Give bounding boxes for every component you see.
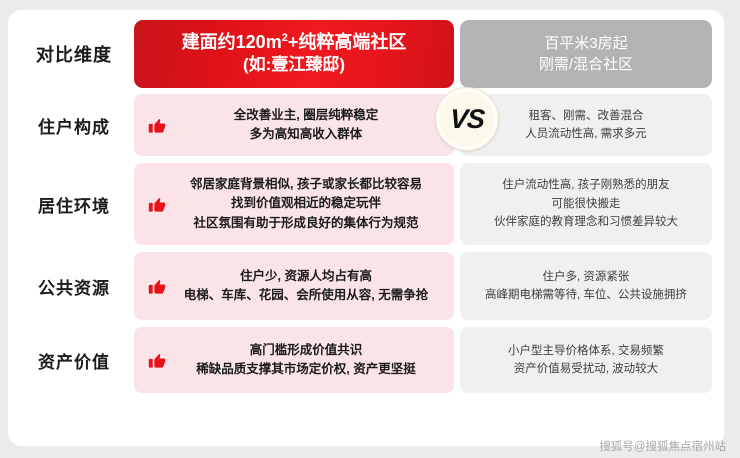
pro-card: 高门槛形成价值共识 稀缺品质支撑其市场定价权, 资产更坚挺: [134, 327, 454, 393]
thumbs-up-icon: [140, 351, 174, 370]
con-text-line: 租客、刚需、改善混合: [525, 107, 646, 125]
table-row: 居住环境 邻居家庭背景相似, 孩子或家长都比较容易 找到价值观相近的稳定玩伴: [20, 163, 712, 245]
con-text: 租客、刚需、改善混合 人员流动性高, 需求多元: [525, 107, 646, 144]
table-row: 公共资源 住户少, 资源人均占有高 电梯、车库、花园、会所使用从容, 无需争抢: [20, 252, 712, 320]
con-cell: 住户流动性高, 孩子刚熟悉的朋友 可能很快搬走 伙伴家庭的教育理念和习惯差异较大: [460, 163, 712, 245]
pro-card: 邻居家庭背景相似, 孩子或家长都比较容易 找到价值观相近的稳定玩伴 社区氛围有助…: [134, 163, 454, 245]
comparison-infographic: 对比维度 建面约120m2+纯粹高端社区 (如:壹江臻邸) 百平米3房起 刚需/…: [0, 0, 740, 458]
pro-header-line1-prefix: 建面约120m: [182, 32, 282, 52]
pro-text-line: 全改善业主, 圈层纯粹稳定: [174, 106, 438, 125]
pro-text: 邻居家庭背景相似, 孩子或家长都比较容易 找到价值观相近的稳定玩伴 社区氛围有助…: [174, 175, 444, 233]
thumbs-up-icon: [140, 195, 174, 214]
dimension-label: 公共资源: [20, 252, 128, 320]
pro-card: 住户少, 资源人均占有高 电梯、车库、花园、会所使用从容, 无需争抢: [134, 252, 454, 320]
pro-header-banner: 建面约120m2+纯粹高端社区 (如:壹江臻邸): [134, 20, 454, 88]
header-row: 对比维度 建面约120m2+纯粹高端社区 (如:壹江臻邸) 百平米3房起 刚需/…: [20, 20, 712, 88]
pro-card: 全改善业主, 圈层纯粹稳定 多为高知高收入群体: [134, 94, 454, 156]
con-card: 住户流动性高, 孩子刚熟悉的朋友 可能很快搬走 伙伴家庭的教育理念和习惯差异较大: [460, 163, 712, 245]
thumbs-up-icon: [140, 277, 174, 296]
pro-header-line1: 建面约120m2+纯粹高端社区: [182, 31, 407, 54]
con-text-line: 伙伴家庭的教育理念和习惯差异较大: [494, 213, 678, 231]
thumbs-up-icon: [140, 116, 174, 135]
dimension-label: 资产价值: [20, 327, 128, 393]
pro-cell: 住户少, 资源人均占有高 电梯、车库、花园、会所使用从容, 无需争抢: [134, 252, 454, 320]
con-card: 租客、刚需、改善混合 人员流动性高, 需求多元: [460, 94, 712, 156]
con-text-line: 小户型主导价格体系, 交易频繁: [508, 342, 664, 360]
pro-text: 住户少, 资源人均占有高 电梯、车库、花园、会所使用从容, 无需争抢: [174, 267, 444, 306]
con-text-line: 住户多, 资源紧张: [485, 268, 687, 286]
pro-header-line1-suffix: +纯粹高端社区: [288, 32, 407, 52]
pro-text-line: 找到价值观相近的稳定玩伴: [174, 194, 438, 213]
con-header-cell: 百平米3房起 刚需/混合社区: [460, 20, 712, 88]
con-header-line2: 刚需/混合社区: [539, 54, 633, 75]
con-cell: 住户多, 资源紧张 高峰期电梯需等待, 车位、公共设施拥挤: [460, 252, 712, 320]
pro-header-cell: 建面约120m2+纯粹高端社区 (如:壹江臻邸): [134, 20, 454, 88]
con-card: 小户型主导价格体系, 交易频繁 资产价值易受扰动, 波动较大: [460, 327, 712, 393]
pro-text-line: 高门槛形成价值共识: [174, 341, 438, 360]
pro-cell: 邻居家庭背景相似, 孩子或家长都比较容易 找到价值观相近的稳定玩伴 社区氛围有助…: [134, 163, 454, 245]
con-text-line: 高峰期电梯需等待, 车位、公共设施拥挤: [485, 286, 687, 304]
con-text: 住户流动性高, 孩子刚熟悉的朋友 可能很快搬走 伙伴家庭的教育理念和习惯差异较大: [494, 176, 678, 231]
con-text-line: 资产价值易受扰动, 波动较大: [508, 360, 664, 378]
pro-cell: 高门槛形成价值共识 稀缺品质支撑其市场定价权, 资产更坚挺: [134, 327, 454, 393]
con-text: 住户多, 资源紧张 高峰期电梯需等待, 车位、公共设施拥挤: [485, 268, 687, 305]
table-row: 住户构成 全改善业主, 圈层纯粹稳定 多为高知高收入群体: [20, 94, 712, 156]
pro-text-line: 多为高知高收入群体: [174, 125, 438, 144]
pro-text-line: 社区氛围有助于形成良好的集体行为规范: [174, 214, 438, 233]
comparison-panel: 对比维度 建面约120m2+纯粹高端社区 (如:壹江臻邸) 百平米3房起 刚需/…: [8, 10, 724, 446]
dimension-header: 对比维度: [20, 20, 128, 88]
vs-badge-label: VS: [449, 104, 485, 135]
pro-header-line2: (如:壹江臻邸): [243, 54, 345, 77]
con-text-line: 住户流动性高, 孩子刚熟悉的朋友: [494, 176, 678, 194]
watermark: 搜狐号@搜狐焦点宿州站: [599, 438, 726, 454]
con-header-banner: 百平米3房起 刚需/混合社区: [460, 20, 712, 88]
comparison-grid: 对比维度 建面约120m2+纯粹高端社区 (如:壹江臻邸) 百平米3房起 刚需/…: [8, 10, 724, 446]
con-text-line: 人员流动性高, 需求多元: [525, 125, 646, 143]
con-cell: 租客、刚需、改善混合 人员流动性高, 需求多元: [460, 94, 712, 156]
dimension-label: 住户构成: [20, 94, 128, 156]
con-cell: 小户型主导价格体系, 交易频繁 资产价值易受扰动, 波动较大: [460, 327, 712, 393]
pro-text-line: 住户少, 资源人均占有高: [174, 267, 438, 286]
pro-cell: 全改善业主, 圈层纯粹稳定 多为高知高收入群体: [134, 94, 454, 156]
con-card: 住户多, 资源紧张 高峰期电梯需等待, 车位、公共设施拥挤: [460, 252, 712, 320]
con-header-line1: 百平米3房起: [544, 33, 627, 54]
con-text: 小户型主导价格体系, 交易频繁 资产价值易受扰动, 波动较大: [508, 342, 664, 379]
vs-badge: VS: [436, 88, 498, 150]
con-text-line: 可能很快搬走: [494, 195, 678, 213]
table-row: 资产价值 高门槛形成价值共识 稀缺品质支撑其市场定价权, 资产更坚挺: [20, 327, 712, 393]
pro-text: 高门槛形成价值共识 稀缺品质支撑其市场定价权, 资产更坚挺: [174, 341, 444, 380]
pro-text-line: 稀缺品质支撑其市场定价权, 资产更坚挺: [174, 360, 438, 379]
pro-text-line: 邻居家庭背景相似, 孩子或家长都比较容易: [174, 175, 438, 194]
pro-text-line: 电梯、车库、花园、会所使用从容, 无需争抢: [174, 286, 438, 305]
pro-text: 全改善业主, 圈层纯粹稳定 多为高知高收入群体: [174, 106, 444, 145]
dimension-label: 居住环境: [20, 163, 128, 245]
